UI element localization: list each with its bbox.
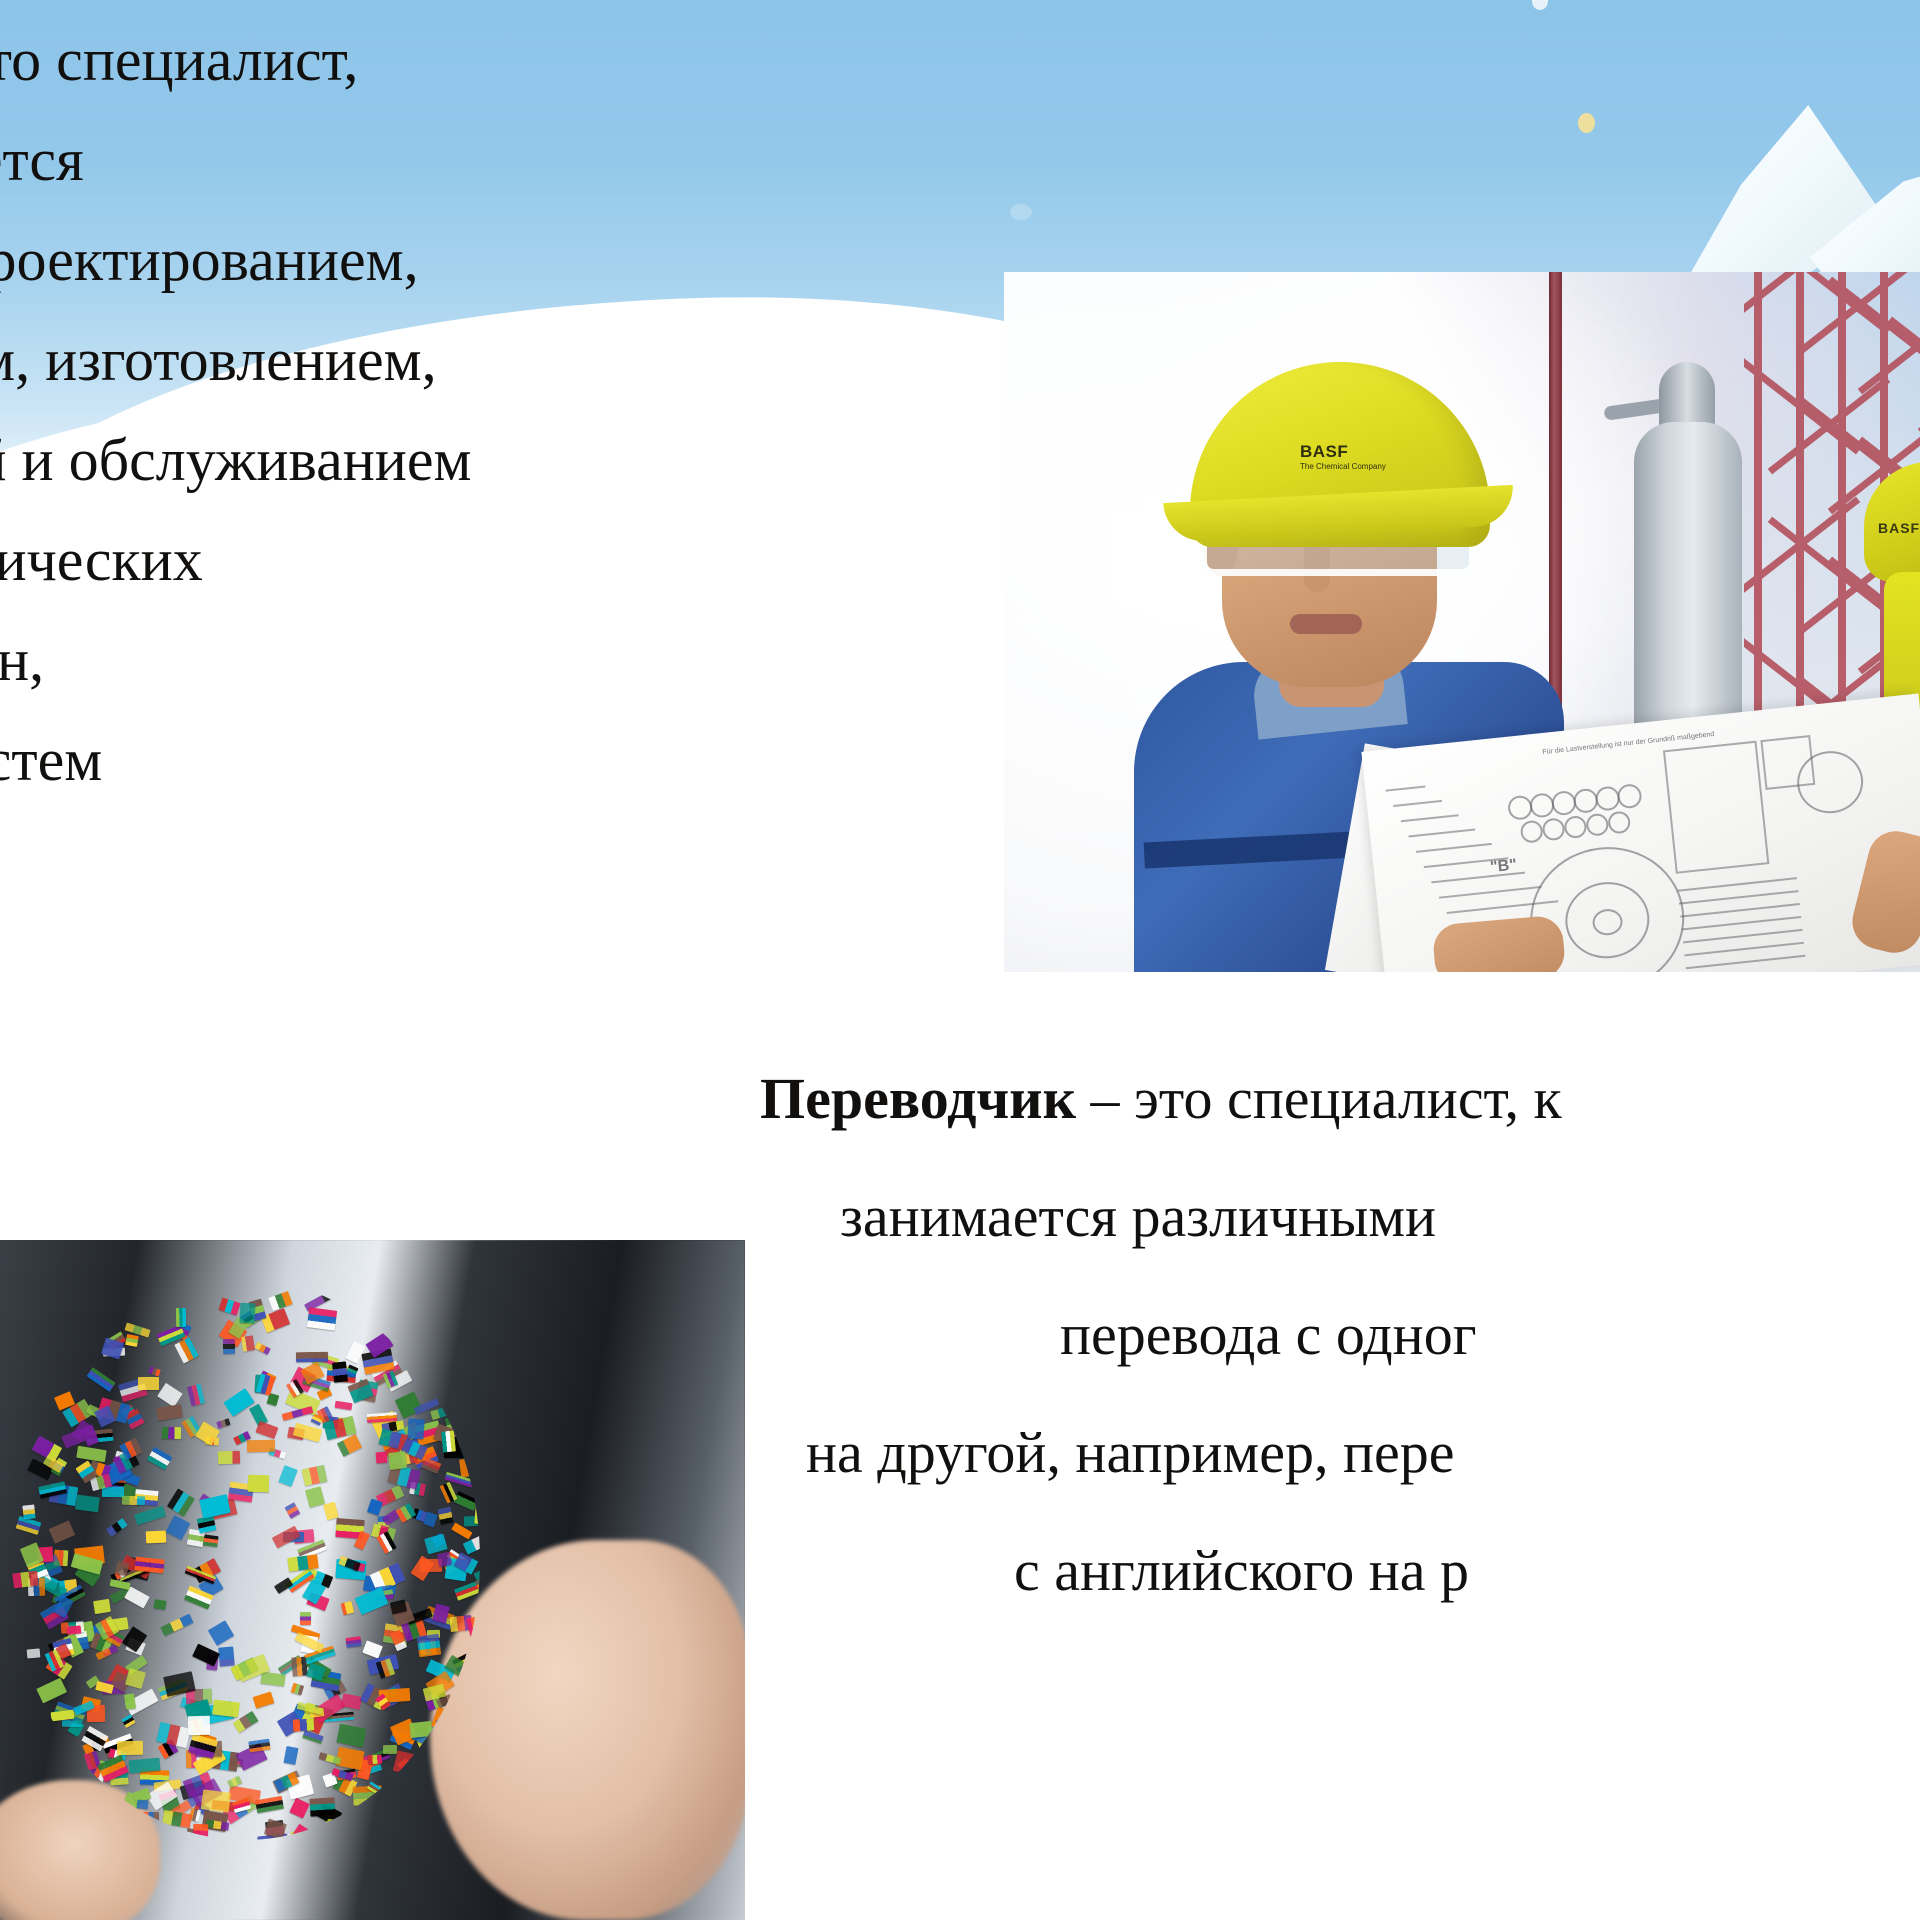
translator-line-1-rest: – это специалист, к [1076,1066,1562,1131]
basf-logo-tagline: The Chemical Company [1300,462,1386,471]
slide-canvas: BASF BASF The Chemical Company Für die L… [0,0,1920,1920]
engineer-line-1: ер – это специалист, [0,10,1005,110]
translator-line-1: Переводчик – это специалист, к [760,1040,1920,1158]
flag-globe-icon [10,1280,480,1840]
basf-logo: BASF The Chemical Company [1300,442,1386,471]
translator-line-5: с английского на р [760,1512,1920,1630]
translator-role-label: Переводчик [760,1066,1076,1131]
engineer-line-2: й занимается [0,110,1005,210]
translator-description: Переводчик – это специалист, к занимаетс… [760,1040,1920,1630]
translator-line-2: занимается различными [760,1158,1920,1276]
engineer-mouth [1290,614,1362,634]
yellow-dot-icon [1578,113,1595,133]
globe-photo [0,1240,745,1920]
translator-line-4: на другой, например, пере [760,1394,1920,1512]
engineer-line-7: тв, машин, [0,610,1005,710]
engineer-photo: BASF BASF The Chemical Company Für die L… [1004,272,1920,972]
translator-line-3: перевода с одног [760,1276,1920,1394]
engineer-line-1-rest: – это специалист, [0,27,358,93]
engineer-line-3: ткой, проектированием, [0,210,1005,310]
basf-logo-text: BASF [1300,442,1348,461]
engineer-line-4: ированием, изготовлением, [0,310,1005,410]
cloud-dot-icon [1010,204,1032,220]
engineer-line-9: жений. [0,810,1005,910]
engineer-line-5: тацией и обслуживанием [0,410,1005,510]
petal-flower-icon [1660,75,1920,290]
engineer-line-8: вания, систем [0,710,1005,810]
engineer-line-6: ых технических [0,510,1005,610]
engineer-description: ер – это специалист, й занимается ткой, … [0,10,1005,910]
